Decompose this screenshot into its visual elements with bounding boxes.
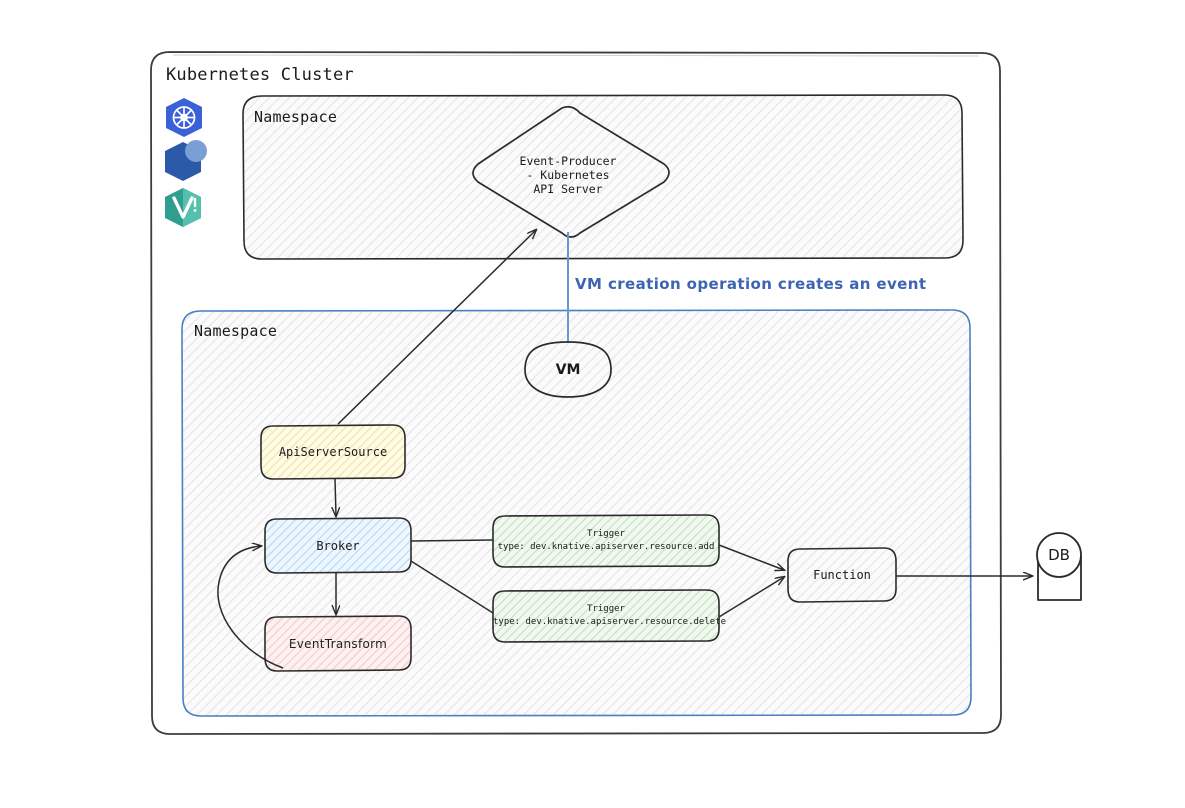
- trigger-add-box[interactable]: [493, 515, 719, 567]
- line-broker-to-trigger-add: [411, 540, 493, 541]
- broker-box[interactable]: [265, 518, 411, 573]
- function-box[interactable]: [788, 548, 896, 602]
- event-transform-box[interactable]: [265, 616, 411, 671]
- diagram-svg: [0, 0, 1185, 808]
- db-cylinder[interactable]: [1037, 533, 1081, 600]
- api-server-source-box[interactable]: [261, 425, 405, 479]
- trigger-delete-box[interactable]: [493, 590, 719, 642]
- diagram-canvas: Kubernetes Cluster Namespace Namespace E…: [0, 0, 1185, 808]
- vm-ellipse[interactable]: [525, 342, 611, 397]
- arrow-apiserversource-to-broker: [335, 479, 336, 516]
